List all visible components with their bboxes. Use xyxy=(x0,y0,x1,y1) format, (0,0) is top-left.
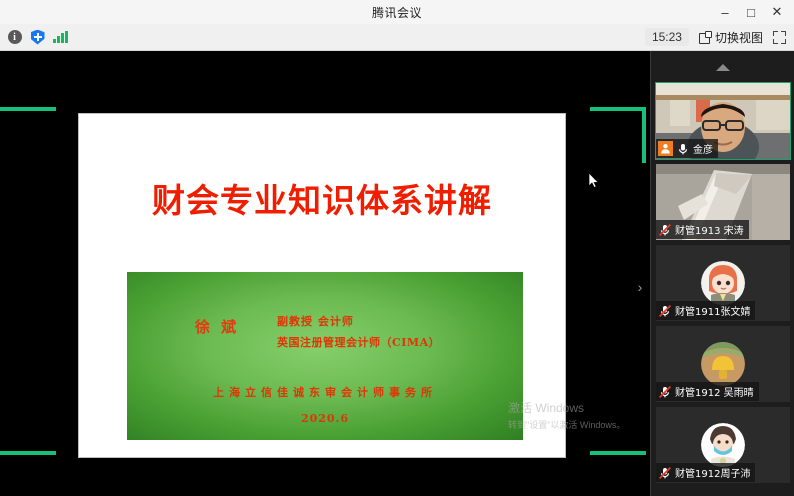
window-title: 腾讯会议 xyxy=(372,4,422,21)
participant-namebar: 金彦 xyxy=(656,139,718,158)
participant-name: 财管1912周子沛 xyxy=(675,465,750,480)
maximize-icon[interactable]: □ xyxy=(738,1,764,23)
shared-screen-stage[interactable]: 财会专业知识体系讲解 徐 斌 副教授 会计师 英国注册管理会计师（CIMA） 上… xyxy=(0,51,650,496)
mouse-cursor xyxy=(589,173,599,188)
slide-date: 2020.6 xyxy=(127,412,523,425)
toolbar-left-icons: i xyxy=(0,29,69,46)
switch-view-button[interactable]: 切换视图 xyxy=(699,29,763,46)
participant-tile[interactable]: 财管1911张文婧 xyxy=(656,245,790,321)
tencent-meeting-window: 腾讯会议 – □ ✕ i 15:23 切换视图 xyxy=(0,0,794,496)
participant-namebar: 财管1912周子沛 xyxy=(656,463,755,482)
signal-icon[interactable] xyxy=(52,29,69,46)
toolbar-right-controls: 15:23 切换视图 xyxy=(645,28,794,46)
microphone-muted-icon xyxy=(658,304,672,318)
participant-tile[interactable]: 金彦 xyxy=(656,83,790,159)
fullscreen-icon[interactable] xyxy=(773,31,786,44)
participant-name: 金彦 xyxy=(693,141,713,156)
collapse-panel-chevron-icon[interactable]: › xyxy=(633,276,647,298)
info-icon[interactable]: i xyxy=(6,29,23,46)
meeting-toolbar: i 15:23 切换视图 xyxy=(0,24,794,51)
participant-namebar: 财管1913 宋涛 xyxy=(656,220,749,239)
participant-namebar: 财管1911张文婧 xyxy=(656,301,755,320)
close-icon[interactable]: ✕ xyxy=(764,1,790,23)
shield-icon[interactable] xyxy=(29,29,46,46)
switch-view-label: 切换视图 xyxy=(715,29,763,46)
presenter-name: 徐 斌 xyxy=(162,316,272,337)
microphone-muted-icon xyxy=(658,385,672,399)
panel-scroll-up-button[interactable] xyxy=(651,59,794,75)
presentation-slide: 财会专业知识体系讲解 徐 斌 副教授 会计师 英国注册管理会计师（CIMA） 上… xyxy=(78,113,566,458)
chevron-up-icon xyxy=(716,64,730,71)
participant-name: 财管1911张文婧 xyxy=(675,303,750,318)
participant-tile[interactable]: 财管1913 宋涛 xyxy=(656,164,790,240)
slide-green-panel: 徐 斌 副教授 会计师 英国注册管理会计师（CIMA） 上海立信佳诚东审会计师事… xyxy=(127,272,523,440)
avatar xyxy=(701,261,745,305)
slide-organization: 上海立信佳诚东审会计师事务所 xyxy=(127,384,523,400)
slide-title: 财会专业知识体系讲解 xyxy=(79,174,565,222)
avatar xyxy=(701,342,745,386)
participant-panel: 金彦 xyxy=(650,51,794,496)
participant-tile[interactable]: 财管1912周子沛 xyxy=(656,407,790,483)
meeting-clock: 15:23 xyxy=(645,28,689,46)
participant-tile[interactable]: 财管1912 吴雨晴 xyxy=(656,326,790,402)
participant-name: 财管1912 吴雨晴 xyxy=(675,384,754,399)
minimize-icon[interactable]: – xyxy=(712,1,738,23)
participant-namebar: 财管1912 吴雨晴 xyxy=(656,382,759,401)
grid-layout-icon xyxy=(699,31,712,43)
microphone-on-icon xyxy=(676,142,690,156)
presenter-title-line1: 副教授 会计师 xyxy=(277,313,354,329)
presenter-title-line2: 英国注册管理会计师（CIMA） xyxy=(277,334,440,350)
window-titlebar: 腾讯会议 – □ ✕ xyxy=(0,0,794,24)
avatar xyxy=(701,423,745,467)
microphone-muted-icon xyxy=(658,466,672,480)
participant-name: 财管1913 宋涛 xyxy=(675,222,744,237)
microphone-muted-icon xyxy=(658,223,672,237)
window-controls: – □ ✕ xyxy=(712,0,790,24)
host-badge-icon xyxy=(658,141,673,156)
